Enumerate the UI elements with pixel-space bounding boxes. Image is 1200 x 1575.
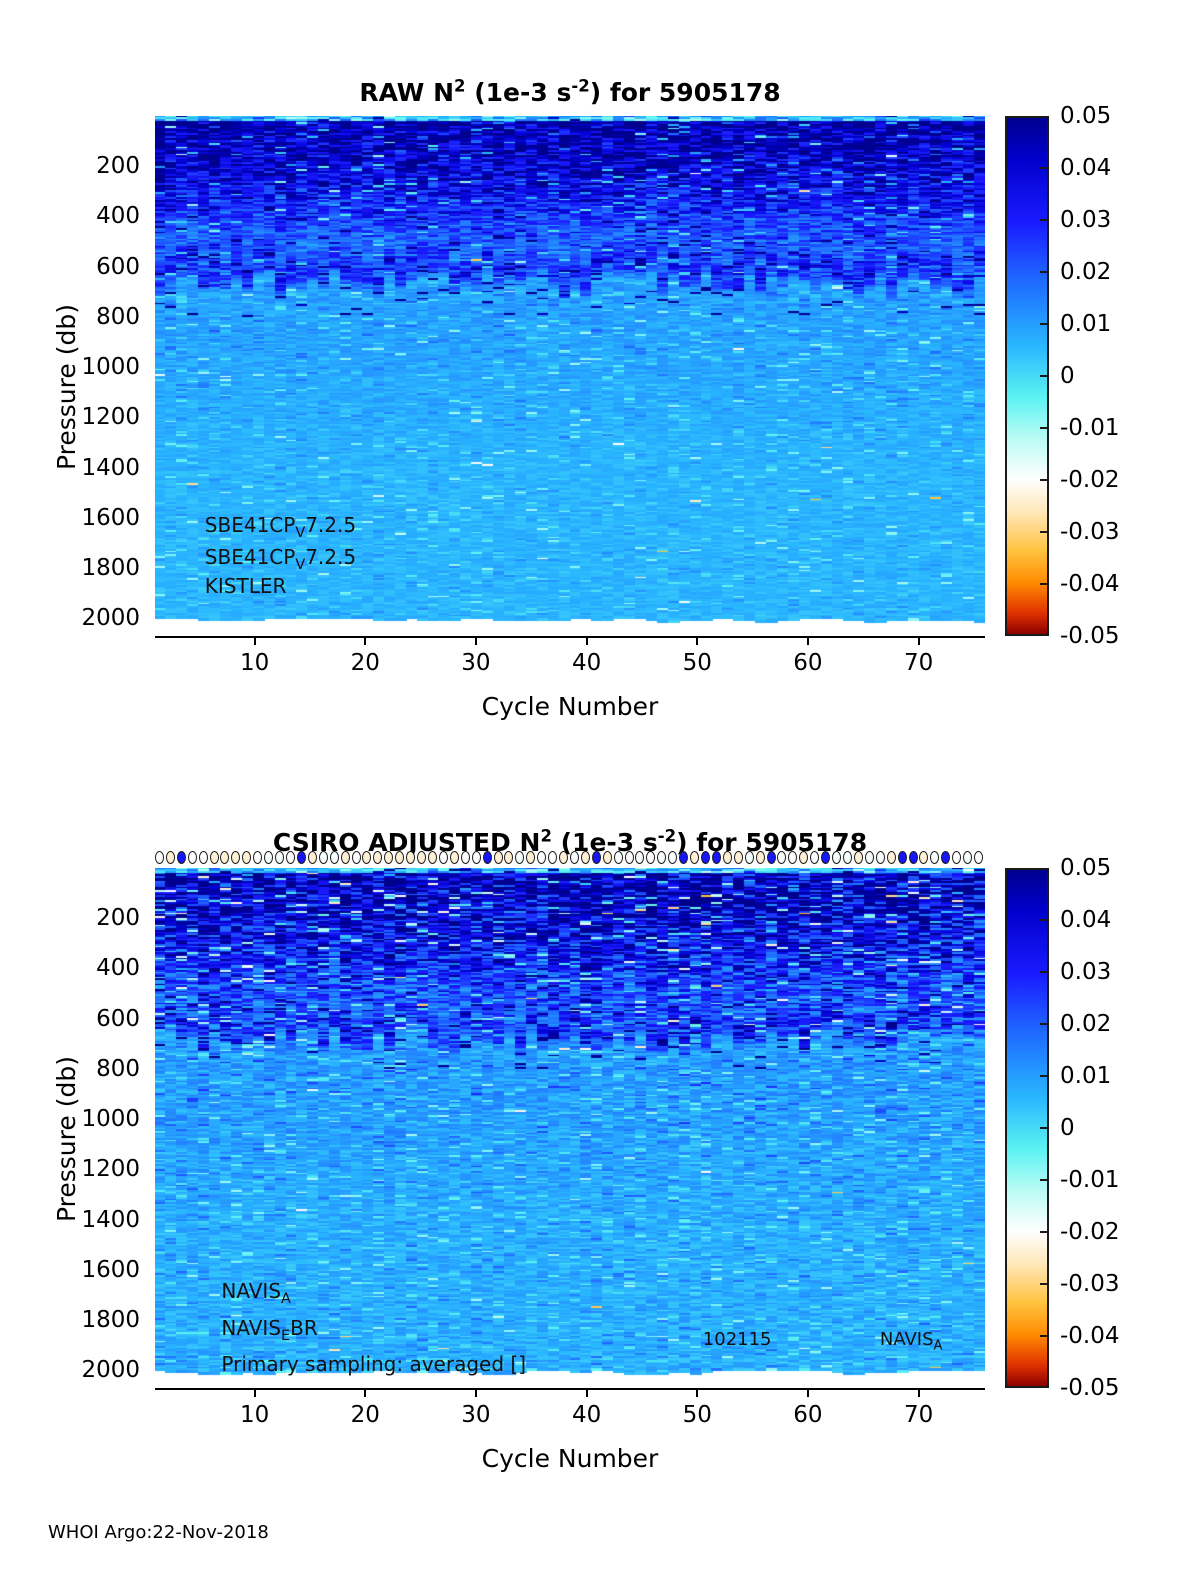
title-sup-2: -2: [571, 77, 589, 96]
cycle-marker[interactable]: [941, 851, 950, 864]
cycle-marker[interactable]: [701, 851, 710, 864]
cycle-marker[interactable]: [319, 851, 328, 864]
cycle-marker[interactable]: [843, 851, 852, 864]
title-sup-1: 2: [454, 77, 465, 96]
colorbar-tick-mark: [1040, 971, 1048, 973]
cycle-marker[interactable]: [876, 851, 885, 864]
colorbar-tick-label: 0.02: [1060, 1011, 1111, 1037]
colorbar-tick-label: -0.04: [1060, 1323, 1120, 1349]
annotation-subscript: V: [295, 557, 305, 573]
colorbar-tick-mark: [1040, 1283, 1048, 1285]
cycle-marker[interactable]: [635, 851, 644, 864]
x-tick-label: 60: [793, 650, 822, 676]
cycle-marker[interactable]: [930, 851, 939, 864]
y-tick-label: 400: [0, 955, 140, 981]
cycle-marker[interactable]: [210, 851, 219, 864]
colorbar-tick-label: 0.03: [1060, 959, 1111, 985]
cycle-marker[interactable]: [690, 851, 699, 864]
y-tick-label: 600: [0, 1006, 140, 1032]
x-tick-label: 20: [351, 650, 380, 676]
x-tick-label: 10: [240, 650, 269, 676]
cycle-marker[interactable]: [657, 851, 666, 864]
annotation-text: SBE41CP: [205, 545, 296, 569]
cycle-marker[interactable]: [526, 851, 535, 864]
x-tick-mark: [696, 636, 698, 645]
annotation-text: SBE41CP: [205, 513, 296, 537]
colorbar-tick-label: -0.01: [1060, 1167, 1120, 1193]
colorbar-tick-mark: [1040, 271, 1048, 273]
cycle-marker[interactable]: [832, 851, 841, 864]
x-tick-label: 40: [572, 1402, 601, 1428]
cycle-marker[interactable]: [373, 851, 382, 864]
annotation-platform-right: NAVISA: [880, 1331, 943, 1349]
annotation-text: NAVIS: [221, 1279, 281, 1303]
x-tick-label: 60: [793, 1402, 822, 1428]
cycle-marker[interactable]: [428, 851, 437, 864]
cycle-marker[interactable]: [854, 851, 863, 864]
colorbar-tick-mark: [1040, 1231, 1048, 1233]
y-tick-label: 600: [0, 254, 140, 280]
colorbar-tick-label: -0.05: [1060, 1375, 1120, 1401]
x-tick-mark: [254, 636, 256, 645]
x-tick-mark: [254, 1388, 256, 1397]
colorbar-tick-mark: [1040, 479, 1048, 481]
cycle-marker[interactable]: [330, 851, 339, 864]
cycle-marker[interactable]: [362, 851, 371, 864]
y-tick-label: 1800: [0, 1307, 140, 1333]
cycle-marker[interactable]: [494, 851, 503, 864]
cycle-marker[interactable]: [963, 851, 972, 864]
annotation-text: KISTLER: [205, 574, 287, 598]
x-tick-mark: [586, 636, 588, 645]
cycle-marker[interactable]: [887, 851, 896, 864]
cycle-marker[interactable]: [614, 851, 623, 864]
panel-raw-title: RAW N2 (1e-3 s-2) for 5905178: [0, 78, 1140, 107]
y-tick-label: 200: [0, 905, 140, 931]
cycle-marker[interactable]: [450, 851, 459, 864]
colorbar-tick-mark: [1040, 1127, 1048, 1129]
title-sup-1: 2: [540, 827, 551, 846]
cycle-marker[interactable]: [242, 851, 251, 864]
colorbar-tick-mark: [1040, 1075, 1048, 1077]
title-suffix: ) for 5905178: [590, 78, 781, 107]
title-prefix: RAW N: [359, 78, 454, 107]
x-tick-mark: [696, 1388, 698, 1397]
cycle-marker[interactable]: [297, 851, 306, 864]
cycle-marker[interactable]: [723, 851, 732, 864]
colorbar-tick-label: -0.02: [1060, 467, 1120, 493]
colorbar-tick-label: 0: [1060, 363, 1075, 389]
y-tick-label: 1600: [0, 1257, 140, 1283]
cycle-marker[interactable]: [220, 851, 229, 864]
title-sup-2: -2: [658, 827, 676, 846]
annotation-text: NAVIS: [221, 1316, 281, 1340]
x-axis-title-adjusted: Cycle Number: [155, 1444, 985, 1473]
x-tick-mark: [364, 636, 366, 645]
cycle-marker[interactable]: [177, 851, 186, 864]
panel-raw: RAW N2 (1e-3 s-2) for 5905178 2004006008…: [0, 0, 1200, 760]
colorbar-tick-label: -0.02: [1060, 1219, 1120, 1245]
cycle-marker[interactable]: [767, 851, 776, 864]
x-tick-mark: [918, 1388, 920, 1397]
colorbar-tick-mark: [1040, 375, 1048, 377]
colorbar-tick-label: 0.04: [1060, 155, 1111, 181]
cycle-marker-row[interactable]: [155, 850, 985, 868]
cycle-marker[interactable]: [472, 851, 481, 864]
cycle-marker[interactable]: [155, 851, 164, 864]
cycle-marker[interactable]: [777, 851, 786, 864]
x-tick-label: 40: [572, 650, 601, 676]
y-tick-label: 2000: [0, 1357, 140, 1383]
x-axis-line-adjusted: [155, 1388, 985, 1390]
cycle-marker[interactable]: [341, 851, 350, 864]
colorbar-tick-mark: [1040, 167, 1048, 169]
cycle-marker[interactable]: [199, 851, 208, 864]
cycle-marker[interactable]: [712, 851, 721, 864]
cycle-marker[interactable]: [898, 851, 907, 864]
cycle-marker[interactable]: [952, 851, 961, 864]
y-tick-label: 1800: [0, 555, 140, 581]
annotation-subscript: A: [934, 1339, 943, 1354]
colorbar-tick-label: 0.03: [1060, 207, 1111, 233]
cycle-marker[interactable]: [395, 851, 404, 864]
y-tick-label: 200: [0, 153, 140, 179]
cycle-marker[interactable]: [581, 851, 590, 864]
cycle-marker[interactable]: [188, 851, 197, 864]
x-tick-mark: [475, 636, 477, 645]
annotation-sampling: Primary sampling: averaged []: [221, 1354, 526, 1374]
footer-credit: WHOI Argo:22-Nov-2018: [48, 1522, 269, 1543]
colorbar-tick-mark: [1040, 1179, 1048, 1181]
colorbar-tick-label: 0.01: [1060, 311, 1111, 337]
cycle-marker[interactable]: [625, 851, 634, 864]
colorbar-tick-label: -0.01: [1060, 415, 1120, 441]
annotation-text: NAVIS: [880, 1329, 934, 1350]
x-tick-mark: [807, 636, 809, 645]
colorbar-tick-mark: [1040, 323, 1048, 325]
colorbar-tick-mark: [1040, 1335, 1048, 1337]
x-tick-label: 30: [461, 650, 490, 676]
colorbar-tick-label: -0.03: [1060, 519, 1120, 545]
colorbar-tick-label: 0.05: [1060, 855, 1111, 881]
x-tick-mark: [918, 636, 920, 645]
cycle-marker[interactable]: [745, 851, 754, 864]
cycle-marker[interactable]: [756, 851, 765, 864]
x-tick-mark: [475, 1388, 477, 1397]
cycle-marker[interactable]: [821, 851, 830, 864]
x-tick-label: 70: [904, 1402, 933, 1428]
cycle-marker[interactable]: [352, 851, 361, 864]
cycle-marker[interactable]: [483, 851, 492, 864]
cycle-marker[interactable]: [592, 851, 601, 864]
cycle-marker[interactable]: [810, 851, 819, 864]
colorbar-tick-label: 0.01: [1060, 1063, 1111, 1089]
cycle-marker[interactable]: [504, 851, 513, 864]
x-tick-label: 50: [683, 650, 712, 676]
cycle-marker[interactable]: [515, 851, 524, 864]
colorbar-tick-label: 0.04: [1060, 907, 1111, 933]
y-tick-label: 1600: [0, 505, 140, 531]
heatmap-adjusted-canvas: [155, 868, 985, 1388]
x-tick-label: 30: [461, 1402, 490, 1428]
colorbar-tick-label: -0.03: [1060, 1271, 1120, 1297]
x-tick-label: 50: [683, 1402, 712, 1428]
cycle-marker[interactable]: [166, 851, 175, 864]
cycle-marker[interactable]: [548, 851, 557, 864]
cycle-marker[interactable]: [603, 851, 612, 864]
y-tick-label: 2000: [0, 605, 140, 631]
colorbar-tick-mark: [1040, 583, 1048, 585]
cycle-marker[interactable]: [308, 851, 317, 864]
x-axis-line-raw: [155, 636, 985, 638]
annotation-sensor-2: SBE41CPV7.2.5: [205, 547, 356, 567]
cycle-marker[interactable]: [264, 851, 273, 864]
x-tick-mark: [807, 1388, 809, 1397]
colorbar-tick-mark: [1040, 219, 1048, 221]
annotation-subscript: V: [295, 525, 305, 541]
cycle-marker[interactable]: [537, 851, 546, 864]
annotation-subscript: A: [281, 1291, 291, 1307]
cycle-marker[interactable]: [384, 851, 393, 864]
annotation-platform-a: NAVISA: [221, 1281, 291, 1301]
x-tick-mark: [586, 1388, 588, 1397]
cycle-marker[interactable]: [974, 851, 983, 864]
x-tick-label: 70: [904, 650, 933, 676]
colorbar-tick-mark: [1040, 919, 1048, 921]
title-mid: (1e-3 s: [466, 78, 572, 107]
colorbar-tick-label: 0.05: [1060, 103, 1111, 129]
cycle-marker[interactable]: [439, 851, 448, 864]
cycle-marker[interactable]: [275, 851, 284, 864]
cycle-marker[interactable]: [788, 851, 797, 864]
annotation-sensor-1: SBE41CPV7.2.5: [205, 515, 356, 535]
cycle-marker[interactable]: [559, 851, 568, 864]
panel-adjusted: CSIRO ADJUSTED N2 (1e-3 s-2) for 5905178…: [0, 740, 1200, 1520]
cycle-marker[interactable]: [461, 851, 470, 864]
annotation-tail: BR: [290, 1316, 318, 1340]
cycle-marker[interactable]: [865, 851, 874, 864]
x-axis-title-raw: Cycle Number: [155, 692, 985, 721]
annotation-platform: KISTLER: [205, 576, 287, 596]
cycle-marker[interactable]: [919, 851, 928, 864]
cycle-marker[interactable]: [679, 851, 688, 864]
cycle-marker[interactable]: [417, 851, 426, 864]
annotation-tail: 7.2.5: [305, 545, 356, 569]
cycle-marker[interactable]: [231, 851, 240, 864]
x-tick-label: 10: [240, 1402, 269, 1428]
cycle-marker[interactable]: [286, 851, 295, 864]
x-tick-mark: [364, 1388, 366, 1397]
cycle-marker[interactable]: [253, 851, 262, 864]
cycle-marker[interactable]: [406, 851, 415, 864]
annotation-tail: 7.2.5: [305, 513, 356, 537]
heatmap-adjusted[interactable]: [155, 868, 985, 1388]
cycle-marker[interactable]: [799, 851, 808, 864]
cycle-marker[interactable]: [646, 851, 655, 864]
colorbar-tick-label: -0.05: [1060, 623, 1120, 649]
cycle-marker[interactable]: [734, 851, 743, 864]
colorbar-tick-label: 0: [1060, 1115, 1075, 1141]
y-axis-title-raw: Pressure (db): [52, 304, 81, 470]
colorbar-tick-label: -0.04: [1060, 571, 1120, 597]
annotation-platform-ebr: NAVISEBR: [221, 1318, 317, 1338]
y-tick-label: 400: [0, 203, 140, 229]
annotation-text: 102115: [703, 1329, 772, 1350]
x-tick-label: 20: [351, 1402, 380, 1428]
colorbar-tick-mark: [1040, 1023, 1048, 1025]
annotation-text: Primary sampling: averaged []: [221, 1352, 526, 1376]
annotation-subscript: E: [281, 1328, 290, 1344]
colorbar-tick-mark: [1040, 531, 1048, 533]
annotation-wmo-secondary: 102115: [703, 1331, 772, 1349]
cycle-marker[interactable]: [570, 851, 579, 864]
y-axis-title-adjusted: Pressure (db): [52, 1056, 81, 1222]
colorbar-tick-label: 0.02: [1060, 259, 1111, 285]
colorbar-tick-mark: [1040, 427, 1048, 429]
cycle-marker[interactable]: [909, 851, 918, 864]
cycle-marker[interactable]: [668, 851, 677, 864]
